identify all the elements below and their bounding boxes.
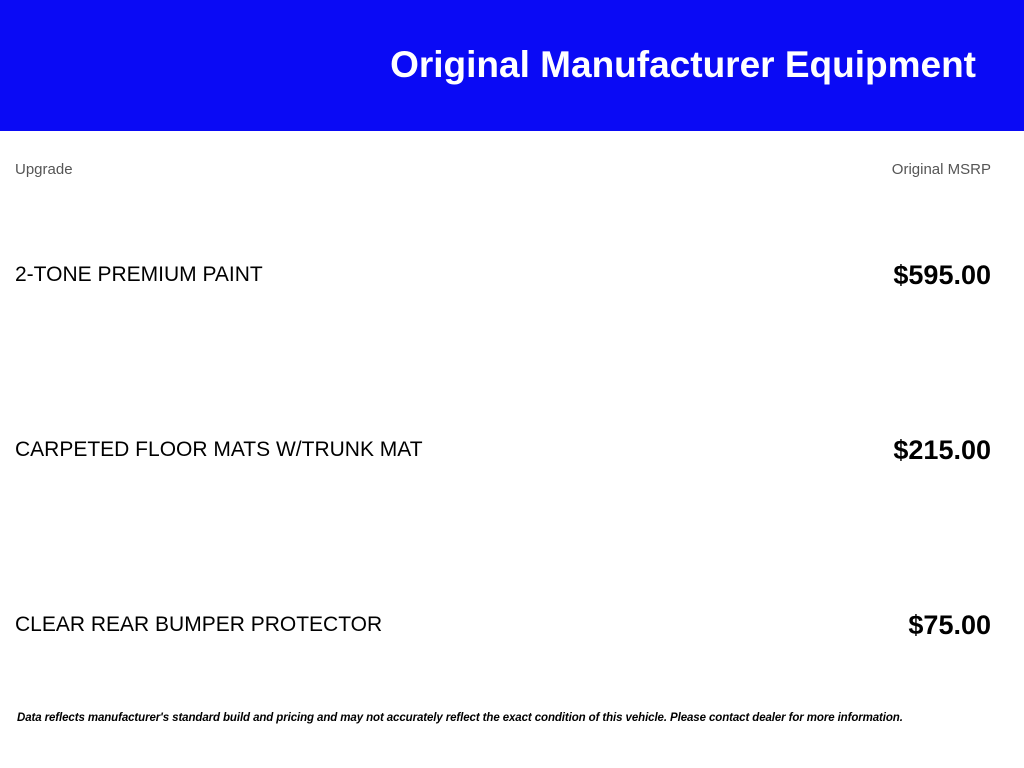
equipment-item-price: $595.00 [893, 260, 991, 290]
column-header-original-msrp: Original MSRP [892, 161, 991, 179]
table-row-content: 2-TONE PREMIUM PAINT $595.00 [0, 260, 1024, 292]
column-header-upgrade: Upgrade [15, 161, 73, 179]
equipment-item-name: CARPETED FLOOR MATS W/TRUNK MAT [15, 438, 423, 462]
equipment-item-price: $75.00 [908, 610, 991, 640]
equipment-item-price: $215.00 [893, 435, 991, 465]
oem-equipment-page: Original Manufacturer Equipment Upgrade … [0, 0, 1024, 768]
table-row-content: CARPETED FLOOR MATS W/TRUNK MAT $215.00 [0, 435, 1024, 467]
table-row-content: CLEAR REAR BUMPER PROTECTOR $75.00 [0, 610, 1024, 642]
equipment-item-name: CLEAR REAR BUMPER PROTECTOR [15, 613, 382, 637]
table-body: 2-TONE PREMIUM PAINT $595.00 CARPETED FL… [0, 209, 1024, 734]
table-row: CLEAR REAR BUMPER PROTECTOR $75.00 [0, 559, 1024, 734]
disclaimer-text: Data reflects manufacturer's standard bu… [17, 711, 1007, 726]
page-header-banner: Original Manufacturer Equipment [0, 0, 1024, 131]
table-row: CARPETED FLOOR MATS W/TRUNK MAT $215.00 [0, 384, 1024, 559]
equipment-table: Upgrade Original MSRP 2-TONE PREMIUM PAI… [0, 131, 1024, 691]
table-header-row: Upgrade Original MSRP [0, 131, 1024, 209]
table-row: 2-TONE PREMIUM PAINT $595.00 [0, 209, 1024, 384]
page-title: Original Manufacturer Equipment [390, 43, 976, 87]
equipment-item-name: 2-TONE PREMIUM PAINT [15, 263, 263, 287]
